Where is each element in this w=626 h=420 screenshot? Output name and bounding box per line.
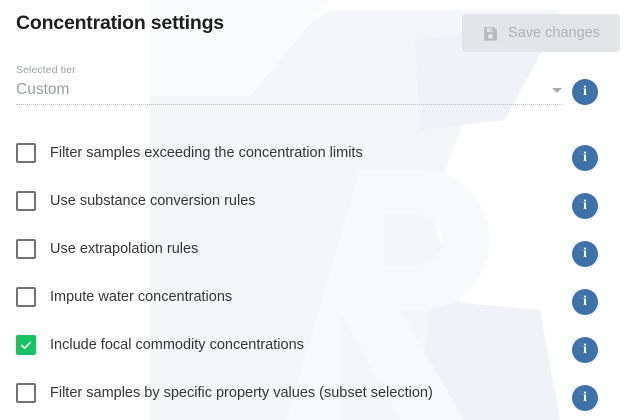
info-icon-extrapolation-rules[interactable]: i: [572, 241, 598, 267]
checkbox-row-filter-by-property-values[interactable]: Filter samples by specific property valu…: [16, 382, 556, 404]
checkbox-label: Use extrapolation rules: [50, 239, 198, 259]
selected-tier-select[interactable]: Custom: [16, 77, 562, 105]
checkbox-label: Filter samples exceeding the concentrati…: [50, 143, 363, 163]
checkbox-substance-conversion-rules[interactable]: [16, 191, 36, 211]
save-changes-button[interactable]: Save changes: [462, 14, 620, 52]
save-changes-label: Save changes: [508, 26, 600, 41]
selected-tier-value: Custom: [16, 79, 69, 101]
info-icon-filter-concentration-limits[interactable]: i: [572, 145, 598, 171]
chevron-down-icon[interactable]: [552, 88, 562, 93]
checkbox-row-impute-water-concentrations[interactable]: Impute water concentrations: [16, 286, 556, 308]
check-icon: [19, 338, 33, 352]
checkbox-filter-by-property-values[interactable]: [16, 383, 36, 403]
selected-tier-field: Selected tier Custom: [16, 64, 562, 105]
panel-header: Concentration settings Save changes: [0, 0, 626, 62]
info-icon-selected-tier[interactable]: i: [572, 79, 598, 105]
checkbox-label: Use substance conversion rules: [50, 191, 256, 211]
info-icon-substance-conversion-rules[interactable]: i: [572, 193, 598, 219]
checkbox-label: Filter samples by specific property valu…: [50, 383, 433, 403]
checkbox-filter-concentration-limits[interactable]: [16, 143, 36, 163]
info-icon-impute-water-concentrations[interactable]: i: [572, 289, 598, 315]
checkbox-row-extrapolation-rules[interactable]: Use extrapolation rules: [16, 238, 556, 260]
checkbox-row-include-focal-commodity[interactable]: Include focal commodity concentrations: [16, 334, 556, 356]
checkbox-impute-water-concentrations[interactable]: [16, 287, 36, 307]
concentration-settings-panel: Concentration settings Save changes Sele…: [0, 0, 626, 420]
checkbox-row-substance-conversion-rules[interactable]: Use substance conversion rules: [16, 190, 556, 212]
checkbox-extrapolation-rules[interactable]: [16, 239, 36, 259]
checkbox-label: Impute water concentrations: [50, 287, 232, 307]
info-icon-include-focal-commodity[interactable]: i: [572, 337, 598, 363]
checkbox-label: Include focal commodity concentrations: [50, 335, 304, 355]
page-title: Concentration settings: [16, 12, 224, 35]
checkbox-include-focal-commodity[interactable]: [16, 335, 36, 355]
save-floppy-icon: [482, 25, 499, 42]
info-icon-filter-by-property-values[interactable]: i: [572, 385, 598, 411]
selected-tier-label: Selected tier: [16, 64, 562, 77]
checkbox-row-filter-concentration-limits[interactable]: Filter samples exceeding the concentrati…: [16, 142, 556, 164]
